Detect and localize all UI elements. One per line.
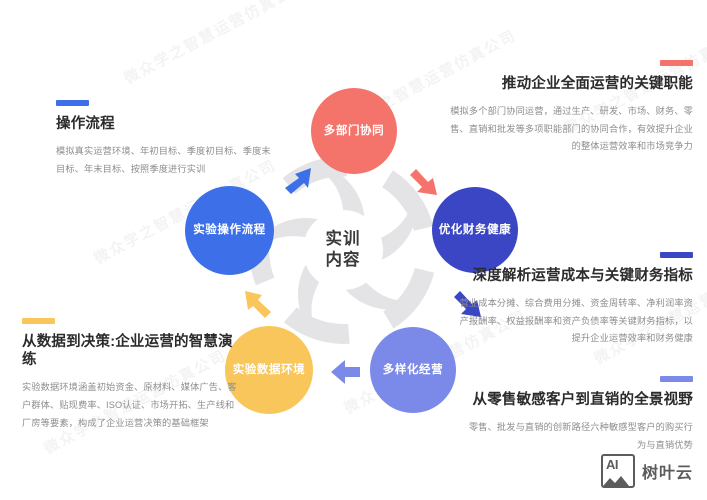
block-retail-to-direct: 从零售敏感客户到直销的全景视野 零售、批发与直销的创新路径六种敏感型客户的购买行… [465, 376, 693, 454]
block-body: 模拟多个部门协同运营，通过生产、研发、市场、财务、零售、直销和批发等多项职能部门… [448, 103, 693, 156]
node-multi-department[interactable]: 多部门协同 [311, 88, 397, 174]
arrow-up-left-yellow [238, 286, 278, 326]
center-label-line2: 内容 [326, 250, 361, 271]
node-label: 多样化经营 [383, 363, 444, 378]
node-label: 实验操作流程 [193, 223, 266, 238]
block-title: 从零售敏感客户到直销的全景视野 [465, 391, 693, 409]
node-lab-process[interactable]: 实验操作流程 [185, 186, 274, 275]
block-title: 推动企业全面运营的关键职能 [448, 75, 693, 93]
arrow-up-right-blue [277, 163, 317, 203]
logo: AI 树叶云 [601, 454, 693, 488]
accent-bar [56, 100, 89, 106]
node-label: 多部门协同 [324, 124, 385, 139]
accent-bar [660, 60, 693, 66]
block-data-to-decision: 从数据到决策:企业运营的智慧演练 实验数据环境涵盖初始资金、原材料、媒体广告、客… [22, 318, 242, 432]
block-operation-process: 操作流程 模拟真实运营环境、年初目标、季度初目标、季度末目标、年末目标、按照季度… [56, 100, 271, 178]
block-body: 实验数据环境涵盖初始资金、原材料、媒体广告、客户群体、贴现费率、ISO认证、市场… [22, 379, 242, 432]
block-cost-metrics: 深度解析运营成本与关键财务指标 营业成本分摊、综合费用分摊、资金周转率、净利润率… [453, 252, 693, 348]
node-label: 优化财务健康 [439, 223, 512, 238]
block-title: 深度解析运营成本与关键财务指标 [453, 267, 693, 285]
node-diversified-ops[interactable]: 多样化经营 [370, 327, 456, 413]
node-label: 实验数据环境 [233, 363, 306, 378]
block-body: 零售、批发与直销的创新路径六种敏感型客户的购买行为与直销优势 [465, 419, 693, 454]
watermark-text: 微众学之智慧运营仿真公司 [120, 0, 310, 89]
accent-bar [660, 376, 693, 382]
block-body: 营业成本分摊、综合费用分摊、资金周转率、净利润率资产报酬率、权益报酬率和资产负债… [453, 295, 693, 348]
accent-bar [660, 252, 693, 258]
block-title: 操作流程 [56, 115, 271, 133]
accent-bar [22, 318, 55, 324]
block-key-functions: 推动企业全面运营的关键职能 模拟多个部门协同运营，通过生产、研发、市场、财务、零… [448, 60, 693, 156]
block-title: 从数据到决策:企业运营的智慧演练 [22, 333, 242, 369]
block-body: 模拟真实运营环境、年初目标、季度初目标、季度末目标、年末目标、按照季度进行实训 [56, 143, 271, 178]
center-label: 实训 内容 [303, 210, 383, 290]
infographic-canvas: 微众学之智慧运营仿真公司 微众学之智慧运营仿真公司 微众学之智慧运营仿真公司 微… [0, 0, 707, 500]
image-ai-icon: AI [601, 454, 635, 488]
arrow-down-right-coral [404, 163, 444, 203]
logo-mark-text: AI [606, 457, 618, 472]
logo-text: 树叶云 [642, 459, 693, 483]
center-label-line1: 实训 [326, 229, 361, 250]
arrow-left-periwinkle [326, 352, 366, 392]
